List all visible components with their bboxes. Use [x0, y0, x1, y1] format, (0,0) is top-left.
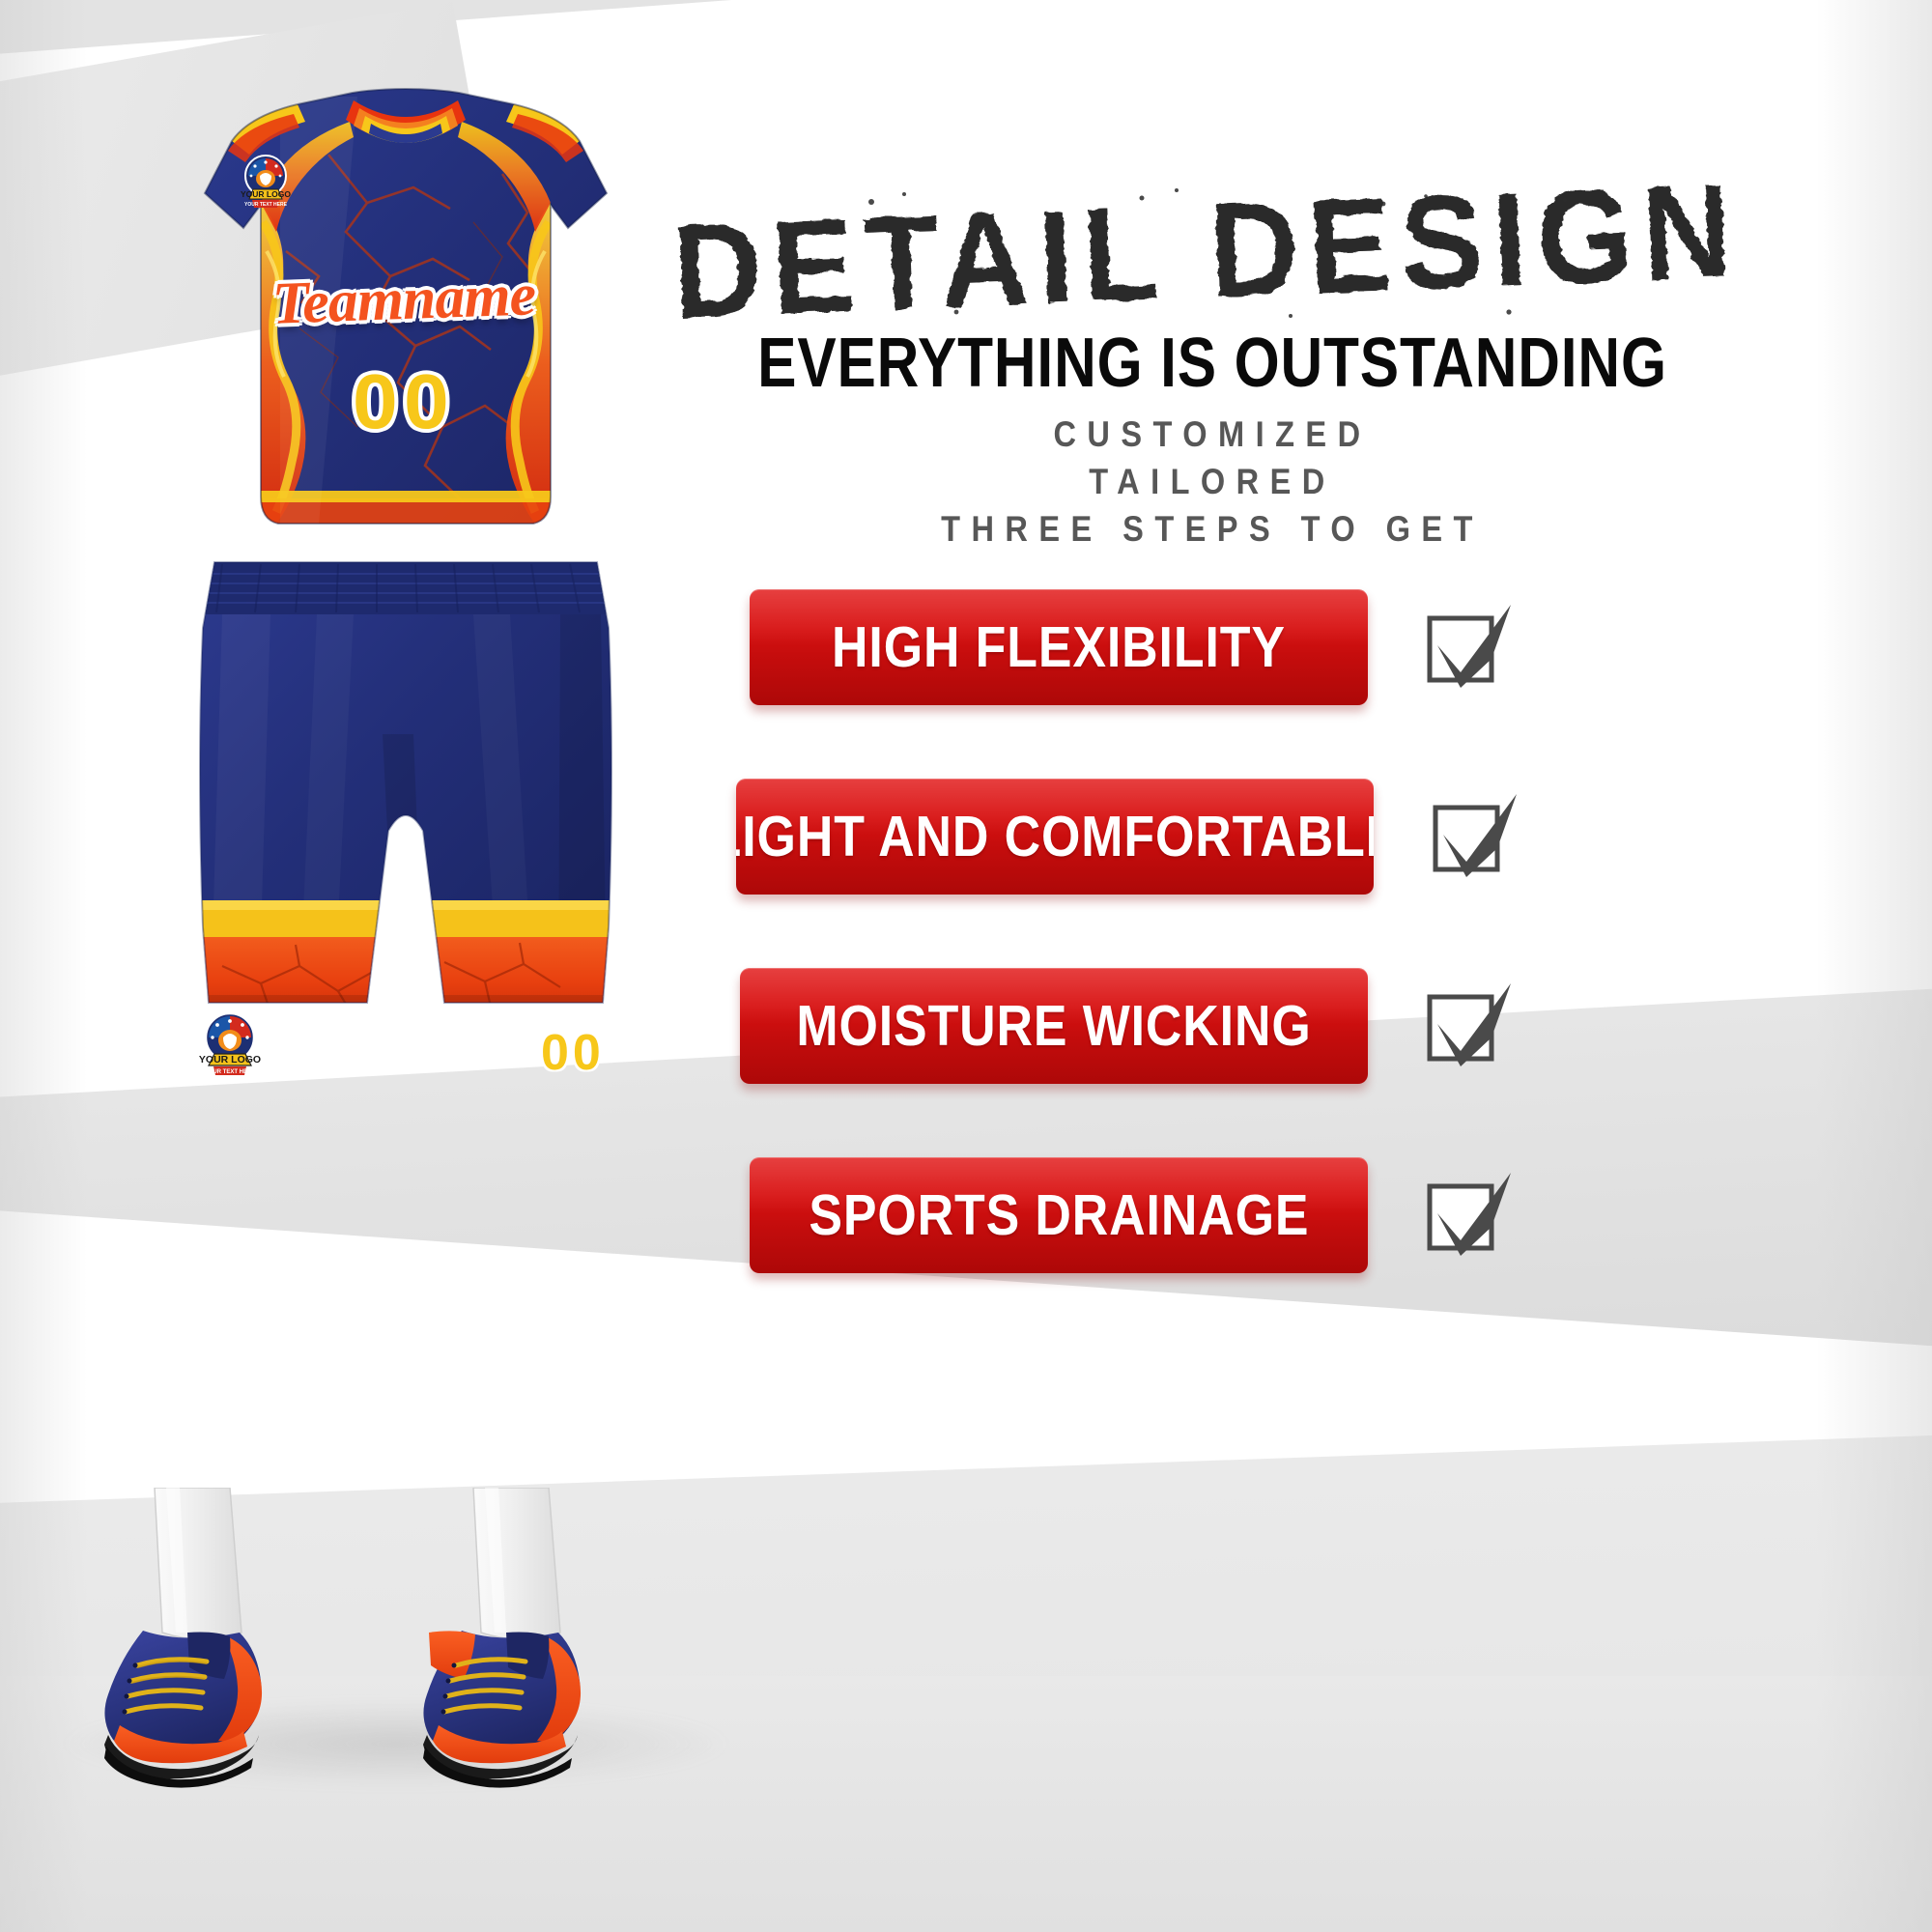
- feature-label: SPORTS DRAINAGE: [809, 1182, 1309, 1248]
- feature-banner[interactable]: LIGHT AND COMFORTABLE: [736, 779, 1374, 895]
- logo-secondary-text: YOUR TEXT HERE: [244, 202, 288, 208]
- feature-banner[interactable]: HIGH FLEXIBILITY: [750, 589, 1368, 705]
- feature-label: MOISTURE WICKING: [796, 993, 1311, 1059]
- brush-title-text: DETAIL DESIGN: [670, 159, 1745, 333]
- check-box-icon: [1420, 601, 1513, 694]
- logo-primary-text: YOUR LOGO: [241, 189, 291, 199]
- shorts-logo-primary-text: YOUR LOGO: [199, 1054, 261, 1065]
- shorts-graphic: [155, 541, 657, 1082]
- jersey-logo-badge: YOUR LOGO YOUR TEXT HERE: [230, 153, 301, 213]
- feature-list: HIGH FLEXIBILITY LIGHT AND COMFORTABLE: [705, 580, 1845, 1283]
- shorts-logo-badge: YOUR LOGO YOUR TEXT HERE: [185, 1009, 274, 1081]
- poster-canvas: YOUR LOGO YOUR TEXT HERE YOUR LOGO: [0, 0, 1932, 1932]
- subtitle-line-3: THREE STEPS TO GET: [724, 505, 1701, 553]
- check-box-icon: [1420, 1169, 1513, 1262]
- feature-banner[interactable]: MOISTURE WICKING: [740, 968, 1368, 1084]
- feature-banner[interactable]: SPORTS DRAINAGE: [750, 1157, 1368, 1273]
- check-box-icon: [1420, 980, 1513, 1072]
- background-vignette-left: [0, 0, 87, 1932]
- check-box-icon: [1426, 790, 1519, 883]
- feature-item-light-and-comfortable[interactable]: LIGHT AND COMFORTABLE: [705, 769, 1845, 904]
- subtitle-line-1: CUSTOMIZED: [724, 411, 1701, 458]
- feature-item-high-flexibility[interactable]: HIGH FLEXIBILITY: [705, 580, 1845, 715]
- shoes-graphic: [87, 1488, 686, 1874]
- feature-item-sports-drainage[interactable]: SPORTS DRAINAGE: [705, 1148, 1845, 1283]
- subtitle-block: CUSTOMIZED TAILORED THREE STEPS TO GET: [657, 411, 1768, 554]
- page-title: EVERYTHING IS OUTSTANDING: [746, 324, 1679, 403]
- subtitle-line-2: TAILORED: [724, 458, 1701, 505]
- brush-title: DETAIL DESIGN: [667, 159, 1748, 333]
- feature-label: LIGHT AND COMFORTABLE: [736, 804, 1374, 869]
- feature-label: HIGH FLEXIBILITY: [832, 614, 1286, 680]
- product-mockup: YOUR LOGO YOUR TEXT HERE YOUR LOGO: [126, 58, 724, 1082]
- shorts-logo-secondary-text: YOUR TEXT HERE: [205, 1069, 256, 1075]
- feature-item-moisture-wicking[interactable]: MOISTURE WICKING: [705, 958, 1845, 1094]
